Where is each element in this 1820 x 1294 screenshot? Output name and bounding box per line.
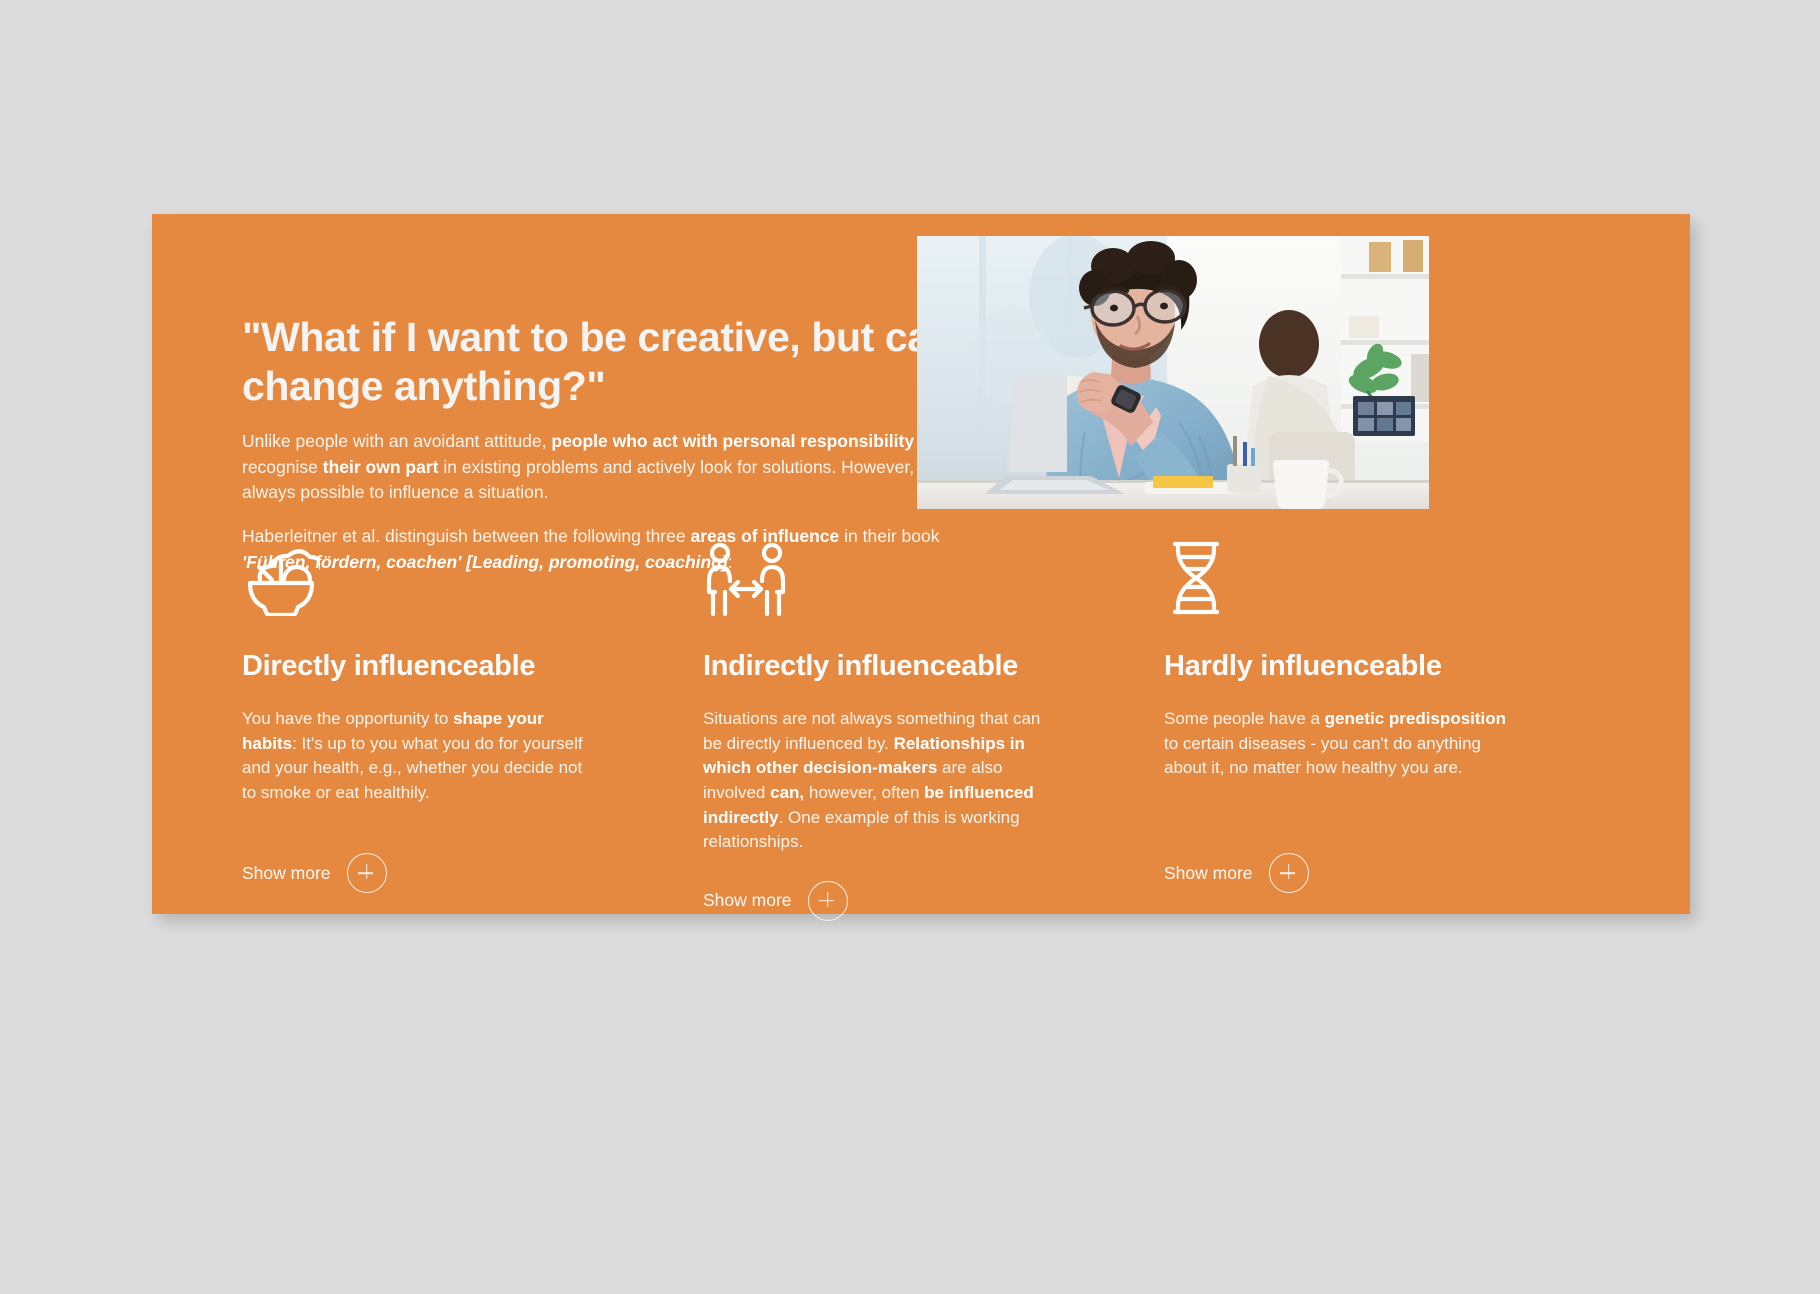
- two-people-arrow-icon: [703, 532, 1103, 616]
- show-more-button-1[interactable]: Show more: [242, 853, 387, 893]
- content-card: "What if I want to be creative, but can'…: [152, 214, 1690, 914]
- column-body: Some people have a genetic predispositio…: [1164, 707, 1509, 827]
- intro-p1-bold2: their own part: [323, 457, 439, 477]
- col2-part3: however, often: [804, 783, 924, 802]
- column-directly-influenceable: Directly influenceable You have the oppo…: [242, 532, 642, 921]
- show-more-label: Show more: [703, 890, 792, 911]
- intro-paragraph-1: Unlike people with an avoidant attitude,…: [242, 429, 990, 506]
- col3-part2: to certain diseases - you can't do anyth…: [1164, 734, 1481, 778]
- column-body: You have the opportunity to shape your h…: [242, 707, 587, 827]
- column-indirectly-influenceable: Indirectly influenceable Situations are …: [703, 532, 1103, 921]
- show-more-label: Show more: [1164, 863, 1253, 884]
- show-more-label: Show more: [242, 863, 331, 884]
- col3-bold1: genetic predisposition: [1325, 709, 1506, 728]
- intro-p1-part2: recognise: [242, 457, 323, 477]
- dna-helix-icon: [1164, 532, 1564, 616]
- col3-part1: Some people have a: [1164, 709, 1325, 728]
- column-title: Indirectly influenceable: [703, 650, 1103, 683]
- plus-icon[interactable]: [808, 881, 848, 921]
- hero-photo: [917, 236, 1429, 509]
- plus-icon[interactable]: [347, 853, 387, 893]
- influence-columns: Directly influenceable You have the oppo…: [242, 532, 1622, 921]
- col2-bold2: can,: [770, 783, 804, 802]
- col1-part1: You have the opportunity to: [242, 709, 453, 728]
- intro-p1-bold1: people who act with personal responsibil…: [551, 431, 914, 451]
- column-title: Hardly influenceable: [1164, 650, 1564, 683]
- show-more-button-2[interactable]: Show more: [703, 881, 848, 921]
- slide-stage: "What if I want to be creative, but can'…: [0, 0, 1820, 1294]
- column-title: Directly influenceable: [242, 650, 642, 683]
- column-hardly-influenceable: Hardly influenceable Some people have a …: [1164, 532, 1564, 921]
- hero-photo-illustration: [917, 236, 1429, 509]
- salad-bowl-icon: [242, 532, 642, 616]
- plus-icon[interactable]: [1269, 853, 1309, 893]
- intro-p1-part1: Unlike people with an avoidant attitude,: [242, 431, 551, 451]
- column-body: Situations are not always something that…: [703, 707, 1048, 855]
- page-title: "What if I want to be creative, but can'…: [242, 313, 1002, 410]
- show-more-button-3[interactable]: Show more: [1164, 853, 1309, 893]
- col1-part2: : It's up to you what you do for yoursel…: [242, 734, 583, 802]
